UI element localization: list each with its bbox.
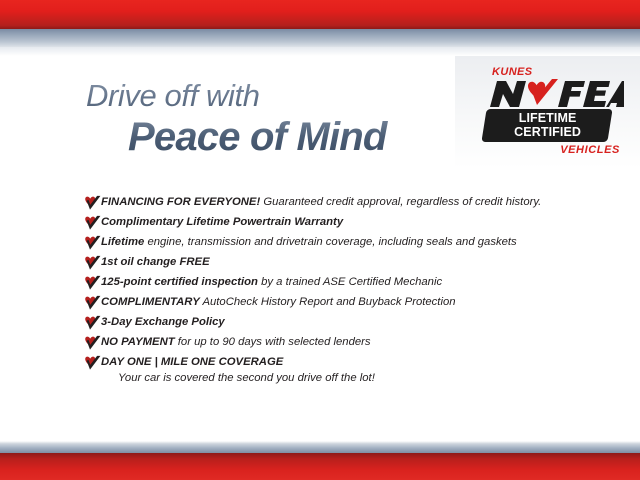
benefit-item: 1st oil change FREE: [84, 254, 584, 274]
benefit-headline: Complimentary Lifetime Powertrain Warran…: [101, 216, 343, 228]
benefit-text: Complimentary Lifetime Powertrain Warran…: [101, 214, 343, 230]
benefit-item: NO PAYMENT for up to 90 days with select…: [84, 334, 584, 354]
benefit-headline: 3-Day Exchange Policy: [101, 316, 225, 328]
logo-bar-text: LIFETIME CERTIFIED: [491, 111, 604, 139]
check-heart-icon: [84, 355, 101, 371]
headline-line-1: Drive off with: [86, 78, 466, 114]
benefit-item: Complimentary Lifetime Powertrain Warran…: [84, 214, 584, 234]
benefit-headline: 1st oil change FREE: [101, 256, 210, 268]
benefit-item: FINANCING FOR EVERYONE! Guaranteed credi…: [84, 194, 584, 214]
check-heart-icon: [84, 315, 101, 331]
benefit-text: DAY ONE | MILE ONE COVERAGE: [101, 354, 375, 370]
check-heart-icon: [84, 255, 101, 271]
kunes-no-fear-logo: KUNES LIFET: [484, 66, 624, 156]
benefit-item: 3-Day Exchange Policy: [84, 314, 584, 334]
bottom-gray-band: [0, 441, 640, 453]
headline-line-2: Peace of Mind: [128, 115, 466, 159]
benefit-headline: COMPLIMENTARY: [101, 296, 200, 308]
bottom-red-band: [0, 453, 640, 480]
benefit-headline: 125-point certified inspection: [101, 276, 258, 288]
benefit-detail: engine, transmission and drivetrain cove…: [144, 236, 516, 248]
check-heart-icon: [84, 195, 101, 211]
benefit-item: COMPLIMENTARY AutoCheck History Report a…: [84, 294, 584, 314]
benefit-text: 125-point certified inspection by a trai…: [101, 274, 442, 290]
top-red-band: [0, 0, 640, 29]
benefit-detail: AutoCheck History Report and Buyback Pro…: [200, 296, 456, 308]
benefit-headline: DAY ONE | MILE ONE COVERAGE: [101, 356, 283, 368]
advertisement-banner: Drive off with Peace of Mind KUNES: [0, 0, 640, 480]
benefit-text: COMPLIMENTARY AutoCheck History Report a…: [101, 294, 456, 310]
benefit-headline: NO PAYMENT: [101, 336, 175, 348]
benefit-text: NO PAYMENT for up to 90 days with select…: [101, 334, 371, 350]
benefits-list: FINANCING FOR EVERYONE! Guaranteed credi…: [84, 194, 584, 386]
benefit-text: 3-Day Exchange Policy: [101, 314, 225, 330]
benefit-text: FINANCING FOR EVERYONE! Guaranteed credi…: [101, 194, 541, 210]
check-heart-icon: [84, 235, 101, 251]
no-fear-svg: [484, 77, 624, 111]
benefit-item: Lifetime engine, transmission and drivet…: [84, 234, 584, 254]
benefit-headline: FINANCING FOR EVERYONE!: [101, 196, 260, 208]
check-heart-icon: [84, 295, 101, 311]
benefit-detail: Guaranteed credit approval, regardless o…: [260, 196, 541, 208]
benefit-text: Lifetime engine, transmission and drivet…: [101, 234, 517, 250]
benefit-item: DAY ONE | MILE ONE COVERAGEYour car is c…: [84, 354, 584, 386]
check-heart-icon: [84, 275, 101, 291]
logo-lifetime-certified-bar: LIFETIME CERTIFIED: [481, 109, 612, 142]
benefit-headline: Lifetime: [101, 236, 144, 248]
check-heart-icon: [84, 335, 101, 351]
check-heart-icon: [84, 215, 101, 231]
benefit-detail: for up to 90 days with selected lenders: [175, 336, 371, 348]
logo-vehicles-text: VEHICLES: [484, 144, 624, 156]
benefit-subline: Your car is covered the second you drive…: [118, 370, 375, 386]
top-gray-band: [0, 29, 640, 47]
top-gray-fade: [0, 47, 640, 56]
logo-no-fear-wordmark: [484, 77, 624, 111]
check-swoosh-icon: [531, 79, 558, 105]
benefit-text: 1st oil change FREE: [101, 254, 210, 270]
benefit-item: 125-point certified inspection by a trai…: [84, 274, 584, 294]
headline: Drive off with Peace of Mind: [86, 78, 466, 159]
benefit-detail: by a trained ASE Certified Mechanic: [258, 276, 442, 288]
